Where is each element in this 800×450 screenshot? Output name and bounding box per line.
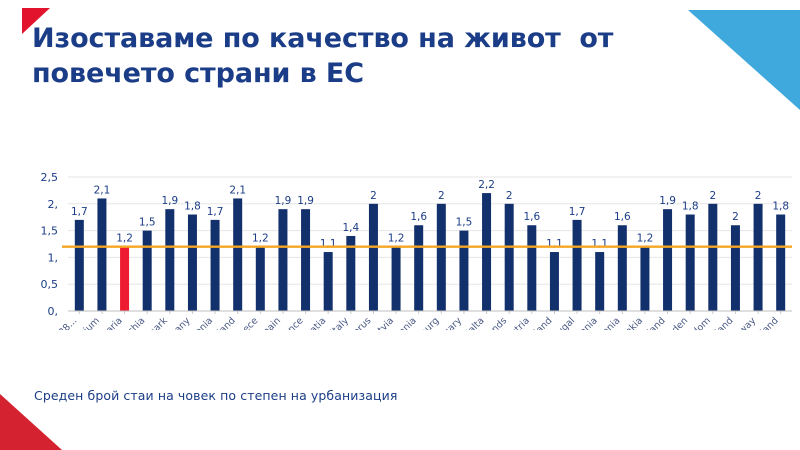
y-axis-tick-label: 2, — [48, 198, 59, 211]
slide-title-line-2: повечето страни в ЕС — [32, 57, 712, 92]
bar[interactable] — [686, 215, 695, 311]
bar[interactable] — [97, 198, 106, 311]
bar-value-label: 2 — [506, 190, 513, 202]
bar[interactable] — [324, 252, 333, 311]
bar-value-label: 2 — [709, 190, 716, 202]
x-axis-tick-label: European Union - 28... — [0, 315, 79, 330]
bar-value-label: 1,6 — [410, 211, 427, 223]
bar[interactable] — [414, 225, 423, 311]
bar[interactable] — [188, 215, 197, 311]
bar-value-label: 2,2 — [478, 179, 495, 191]
bar[interactable] — [392, 247, 401, 311]
bar[interactable] — [754, 204, 763, 311]
bar-value-label: 1,9 — [161, 195, 178, 207]
bar[interactable] — [776, 215, 785, 311]
bar-value-label: 1,2 — [637, 233, 654, 245]
chart-svg: 0,0,51,1,52,2,51,7European Union - 28...… — [0, 160, 800, 330]
bar-value-label: 1,9 — [659, 195, 676, 207]
y-axis-tick-label: 2,5 — [41, 171, 59, 184]
bar-value-label: 1,9 — [275, 195, 292, 207]
bar[interactable] — [550, 252, 559, 311]
x-axis-tick-label: Malta — [460, 315, 486, 330]
bar[interactable] — [459, 231, 468, 311]
bar[interactable] — [573, 220, 582, 311]
bar-highlighted[interactable] — [120, 247, 129, 311]
bar[interactable] — [663, 209, 672, 311]
bar-value-label: 1,2 — [116, 233, 133, 245]
bar-value-label: 1,8 — [772, 201, 789, 213]
bar[interactable] — [233, 198, 242, 311]
bar-value-label: 2 — [732, 211, 739, 223]
bar-value-label: 1,2 — [252, 233, 269, 245]
bar[interactable] — [143, 231, 152, 311]
bar-value-label: 1,2 — [388, 233, 405, 245]
bar[interactable] — [505, 204, 514, 311]
bar[interactable] — [527, 225, 536, 311]
x-axis-tick-label: Italy — [329, 315, 352, 330]
bar-value-label: 1,1 — [320, 238, 337, 250]
bar[interactable] — [595, 252, 604, 311]
bar[interactable] — [75, 220, 84, 311]
y-axis-tick-label: 1,5 — [41, 225, 59, 238]
bar[interactable] — [301, 209, 310, 311]
bar[interactable] — [369, 204, 378, 311]
y-axis-tick-label: 0,5 — [41, 278, 59, 291]
bar-value-label: 1,5 — [456, 217, 473, 229]
bar-value-label: 2,1 — [94, 184, 111, 196]
y-axis-tick-label: 0, — [48, 305, 59, 318]
bar-value-label: 2,1 — [229, 184, 246, 196]
bar-value-label: 2 — [370, 190, 377, 202]
bar[interactable] — [618, 225, 627, 311]
bar-chart: 0,0,51,1,52,2,51,7European Union - 28...… — [0, 160, 800, 330]
bar-value-label: 1,7 — [71, 206, 88, 218]
bar[interactable] — [278, 209, 287, 311]
bar-value-label: 1,6 — [614, 211, 631, 223]
bar[interactable] — [731, 225, 740, 311]
bar[interactable] — [640, 247, 649, 311]
bar-value-label: 1,4 — [342, 222, 359, 234]
bar-value-label: 1,8 — [184, 201, 201, 213]
bar-value-label: 1,7 — [569, 206, 586, 218]
bar-value-label: 1,5 — [139, 217, 156, 229]
x-axis-tick-label: Spain — [257, 315, 284, 330]
bar-value-label: 2 — [755, 190, 762, 202]
bar-value-label: 1,1 — [591, 238, 608, 250]
bar[interactable] — [708, 204, 717, 311]
bar[interactable] — [211, 220, 220, 311]
bar-value-label: 1,7 — [207, 206, 224, 218]
bar-value-label: 2 — [438, 190, 445, 202]
bar-value-label: 1,8 — [682, 201, 699, 213]
bar-value-label: 1,6 — [523, 211, 540, 223]
bar-value-label: 1,1 — [546, 238, 563, 250]
chart-caption: Среден брой стаи на човек по степен на у… — [34, 388, 397, 403]
bar[interactable] — [165, 209, 174, 311]
slide-title: Изоставаме по качество на живот от повеч… — [32, 22, 712, 91]
slide-canvas: Изоставаме по качество на живот от повеч… — [0, 0, 800, 450]
slide-title-line-1: Изоставаме по качество на живот от — [32, 22, 712, 57]
bar[interactable] — [482, 193, 491, 311]
bar[interactable] — [437, 204, 446, 311]
bar[interactable] — [256, 247, 265, 311]
y-axis-tick-label: 1, — [48, 251, 59, 264]
bar-value-label: 1,9 — [297, 195, 314, 207]
